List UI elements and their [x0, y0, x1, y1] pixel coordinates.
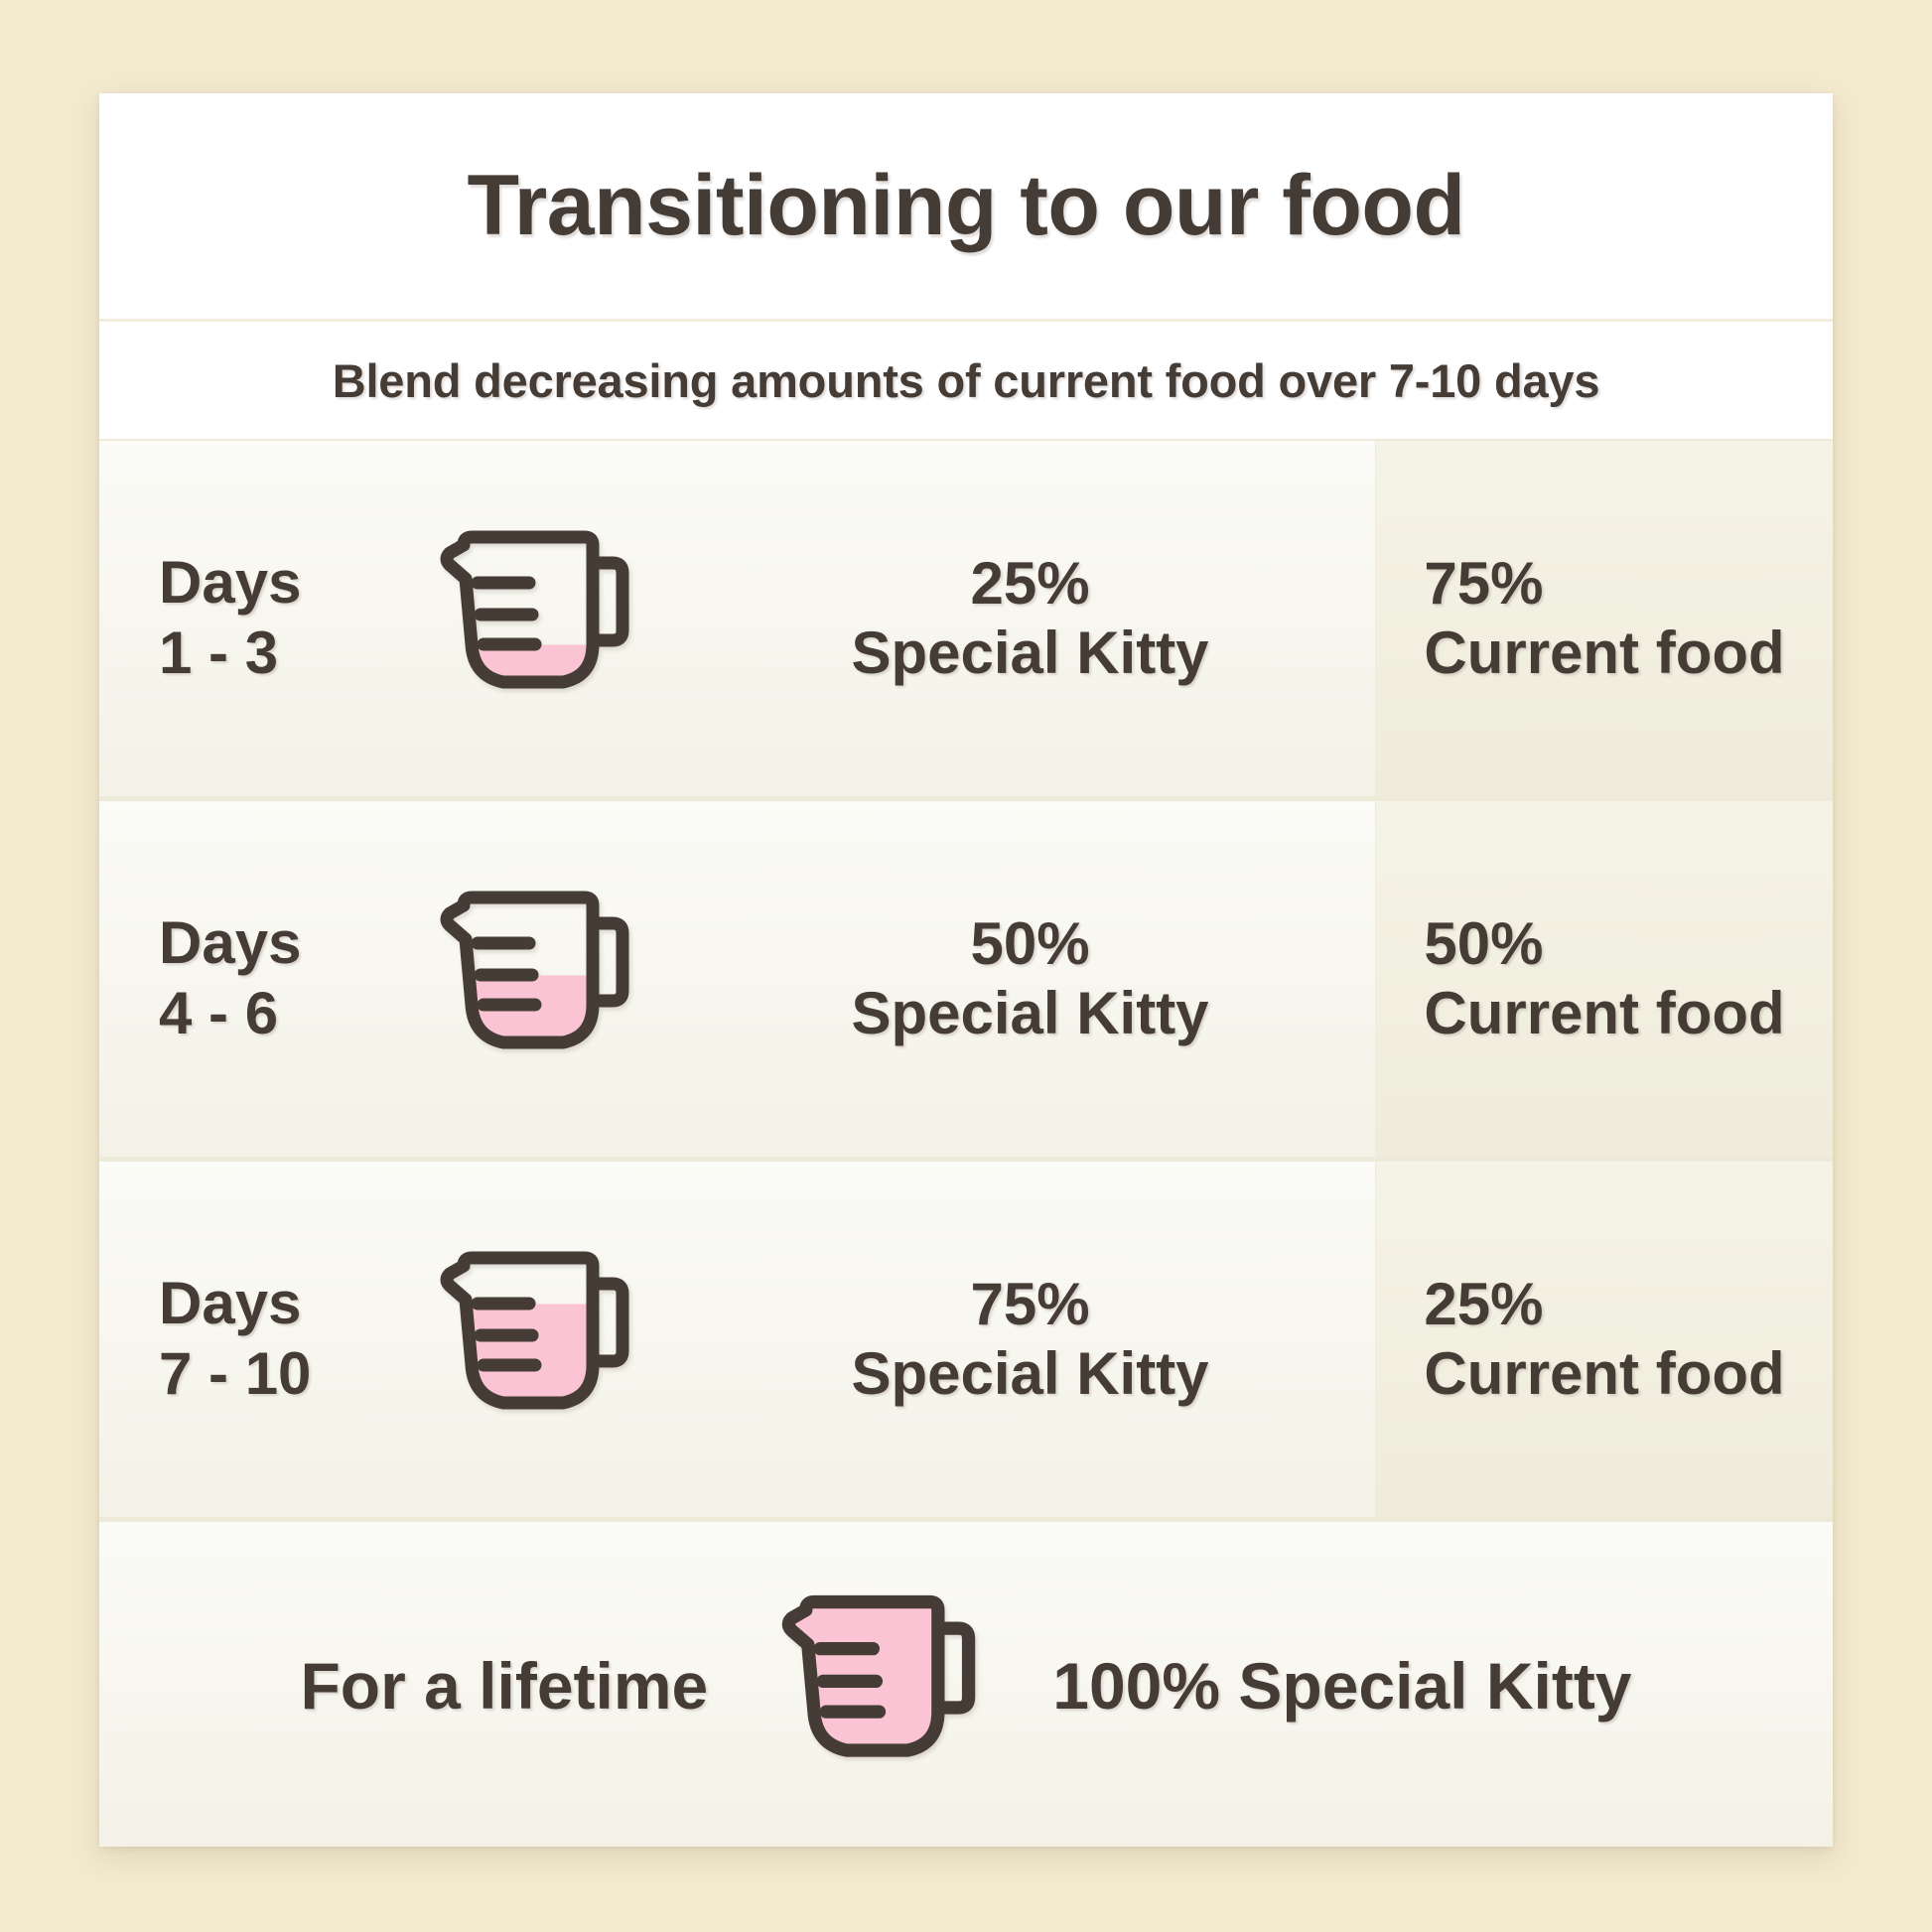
days-label: Days 7 - 10: [99, 1269, 387, 1410]
cup-cell: [387, 527, 685, 711]
transition-chart-card: Transitioning to our food Blend decreasi…: [99, 93, 1833, 1847]
current-food-name: Current food: [1424, 979, 1784, 1048]
row-left-column: Days 4 - 6: [99, 801, 1375, 1157]
new-food-percent: 50%: [851, 909, 1208, 979]
current-food-cell: 50% Current food: [1375, 801, 1833, 1157]
days-label: Days 1 - 3: [99, 548, 387, 689]
days-label-line1: Days: [159, 549, 301, 616]
days-label-line1: Days: [159, 1270, 301, 1336]
new-food-percent: 25%: [851, 549, 1208, 619]
new-food-name: Special Kitty: [851, 619, 1208, 688]
new-food-cell: 50% Special Kitty: [685, 909, 1375, 1048]
row-left-column: Days 7 - 10: [99, 1162, 1375, 1517]
current-food-name: Current food: [1424, 1339, 1784, 1409]
current-food-percent: 25%: [1424, 1270, 1784, 1339]
current-food-name: Current food: [1424, 619, 1784, 688]
current-food-percent: 50%: [1424, 909, 1784, 979]
step-rows: Days 1 - 3: [99, 441, 1833, 1522]
days-label-line2: 4 - 6: [159, 980, 278, 1046]
row-left-column: Days 1 - 3: [99, 441, 1375, 796]
days-label-line2: 7 - 10: [159, 1340, 311, 1407]
table-row: Days 7 - 10: [99, 1162, 1833, 1522]
page-title: Transitioning to our food: [467, 157, 1464, 255]
table-row: Days 4 - 6: [99, 801, 1833, 1162]
measuring-cup-icon: [432, 1248, 640, 1432]
days-label-line1: Days: [159, 909, 301, 976]
new-food-cell: 25% Special Kitty: [685, 549, 1375, 688]
subtitle-band: Blend decreasing amounts of current food…: [99, 322, 1833, 441]
cup-cell: [387, 1248, 685, 1432]
lifetime-amount: 100% Special Kitty: [1052, 1648, 1631, 1724]
lifetime-label: For a lifetime: [300, 1648, 708, 1724]
cup-cell: [387, 888, 685, 1071]
current-food-cell: 75% Current food: [1375, 441, 1833, 796]
days-label: Days 4 - 6: [99, 908, 387, 1049]
page-subtitle: Blend decreasing amounts of current food…: [333, 353, 1600, 408]
table-row: Days 1 - 3: [99, 441, 1833, 801]
measuring-cup-icon: [432, 527, 640, 711]
new-food-name: Special Kitty: [851, 1339, 1208, 1409]
new-food-name: Special Kitty: [851, 979, 1208, 1048]
new-food-percent: 75%: [851, 1270, 1208, 1339]
current-food-percent: 75%: [1424, 549, 1784, 619]
measuring-cup-icon: [432, 888, 640, 1071]
current-food-cell: 25% Current food: [1375, 1162, 1833, 1517]
measuring-cup-icon: [773, 1591, 987, 1780]
new-food-cell: 75% Special Kitty: [685, 1270, 1375, 1409]
final-row: For a lifetime 100% Special Kitty: [99, 1522, 1833, 1847]
days-label-line2: 1 - 3: [159, 620, 278, 686]
title-band: Transitioning to our food: [99, 93, 1833, 322]
